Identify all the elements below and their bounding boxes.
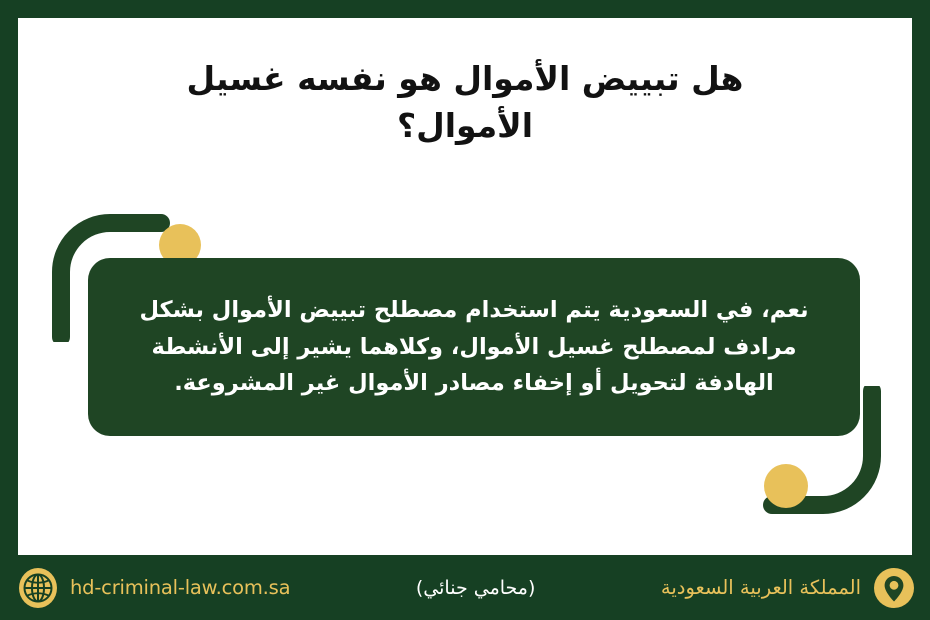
content-panel: هل تبييض الأموال هو نفسه غسيل الأموال؟ ن… (18, 18, 912, 555)
page-title: هل تبييض الأموال هو نفسه غسيل الأموال؟ (18, 56, 912, 150)
website-url[interactable]: hd-criminal-law.com.sa (70, 576, 290, 599)
poster-root: هل تبييض الأموال هو نفسه غسيل الأموال؟ ن… (0, 0, 930, 620)
location-pin-icon (873, 567, 915, 609)
answer-card: نعم، في السعودية يتم استخدام مصطلح تبييض… (88, 258, 860, 436)
gold-circle-bottom (764, 464, 808, 508)
country-label: المملكة العربية السعودية (661, 576, 861, 599)
globe-icon (17, 567, 59, 609)
footer-website-group: hd-criminal-law.com.sa (0, 567, 290, 609)
footer-specialty: (محامي جنائي) (290, 577, 661, 599)
footer-bar: hd-criminal-law.com.sa (محامي جنائي) الم… (0, 555, 930, 620)
answer-text: نعم، في السعودية يتم استخدام مصطلح تبييض… (130, 292, 818, 401)
footer-country-group: المملكة العربية السعودية (661, 567, 930, 609)
